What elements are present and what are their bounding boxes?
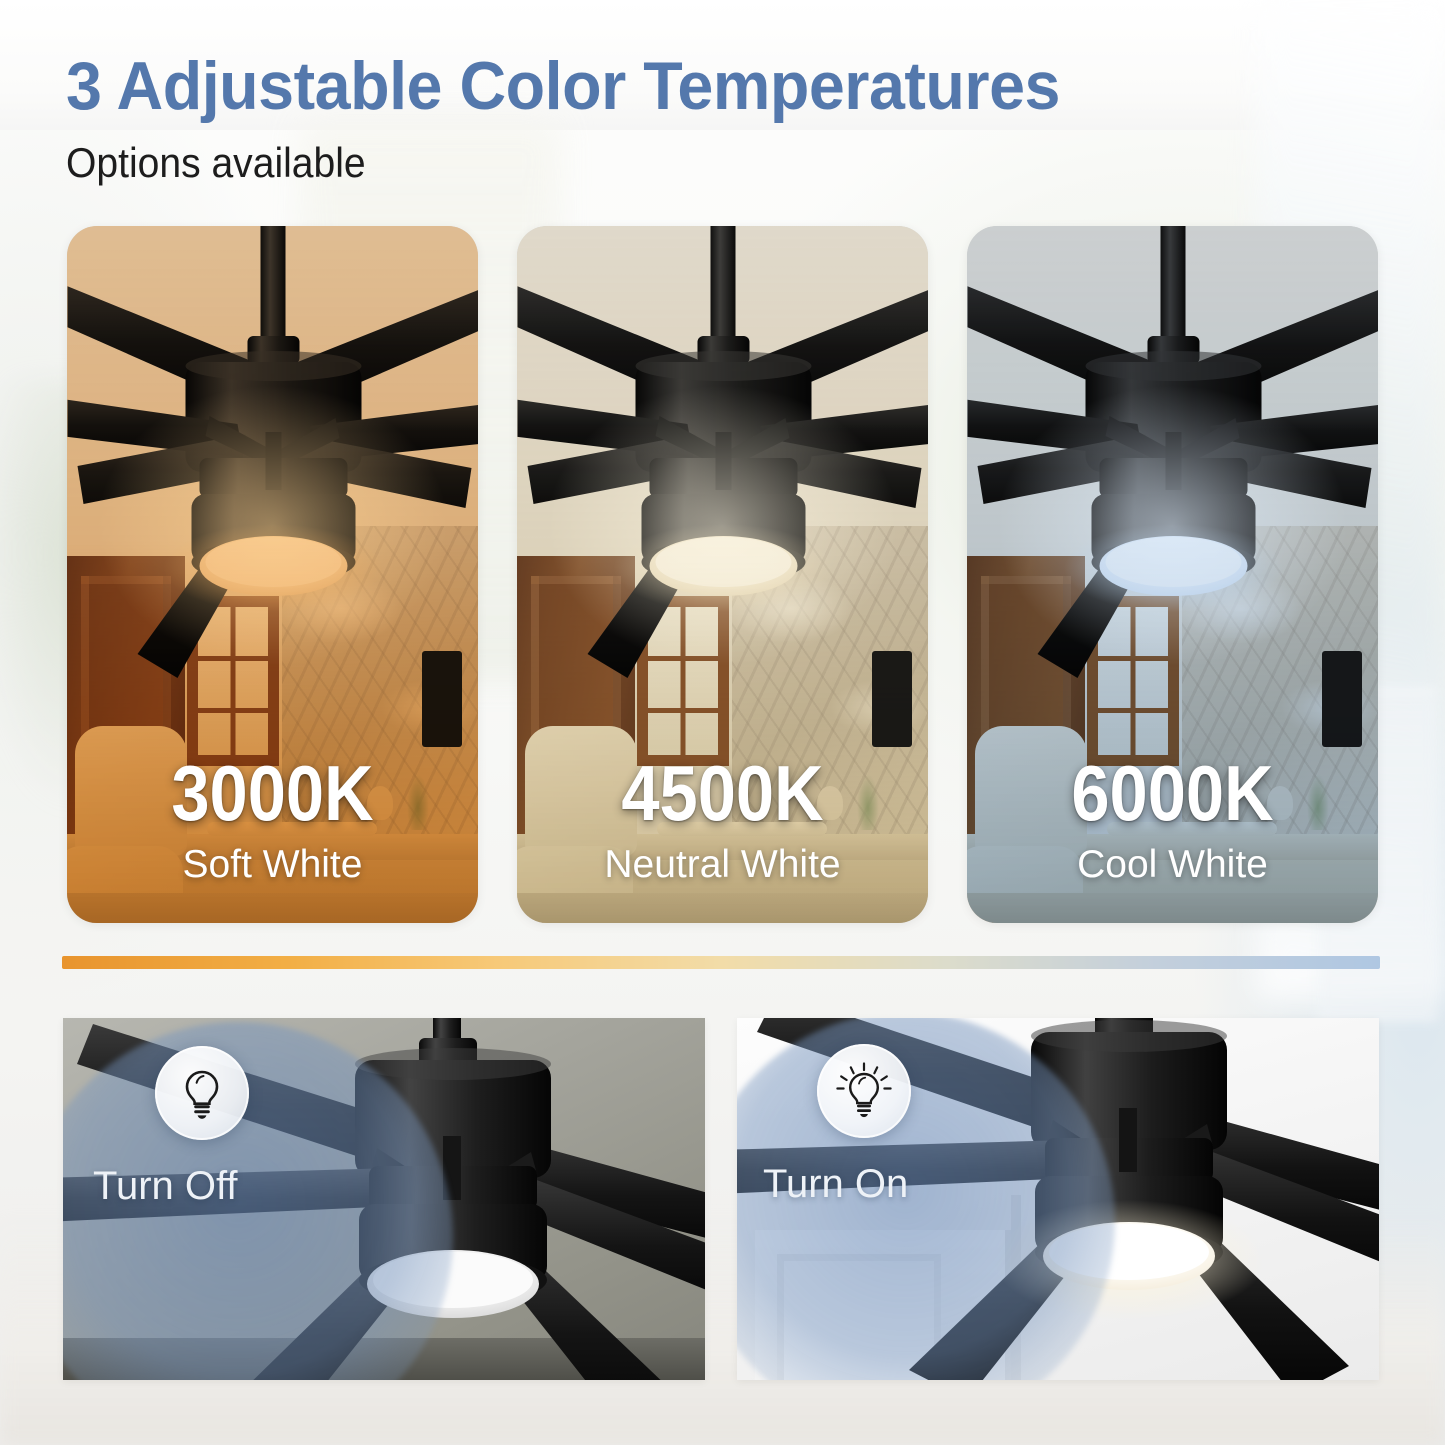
card-caption: 3000K Soft White <box>67 754 478 884</box>
bulb-on-icon <box>817 1044 911 1138</box>
page-subtitle: Options available <box>66 142 1229 184</box>
kelvin-value: 3000K <box>92 754 454 832</box>
light-panel-label: Turn Off <box>93 1166 238 1206</box>
light-panel-turn-on[interactable]: Turn On <box>737 1018 1379 1380</box>
light-control-panel-row: Turn Off <box>63 1018 1379 1380</box>
kelvin-label: Soft White <box>67 845 478 884</box>
card-caption: 6000K Cool White <box>967 754 1378 884</box>
color-temperature-card-row: 3000K Soft White <box>67 226 1378 923</box>
kelvin-label: Neutral White <box>517 845 928 884</box>
light-panel-label: Turn On <box>763 1164 908 1204</box>
kelvin-label: Cool White <box>967 845 1378 884</box>
header-block: 3 Adjustable Color Temperatures Options … <box>66 52 1316 184</box>
page-title: 3 Adjustable Color Temperatures <box>66 52 1254 120</box>
color-temperature-card-4500k[interactable]: 4500K Neutral White <box>517 226 928 923</box>
bulb-off-icon <box>155 1046 249 1140</box>
product-feature-image: 3 Adjustable Color Temperatures Options … <box>0 0 1445 1445</box>
light-panel-turn-off[interactable]: Turn Off <box>63 1018 705 1380</box>
card-caption: 4500K Neutral White <box>517 754 928 884</box>
kelvin-value: 6000K <box>992 754 1354 832</box>
temperature-gradient-divider <box>62 956 1380 969</box>
color-temperature-card-3000k[interactable]: 3000K Soft White <box>67 226 478 923</box>
color-temperature-card-6000k[interactable]: 6000K Cool White <box>967 226 1378 923</box>
kelvin-value: 4500K <box>542 754 904 832</box>
